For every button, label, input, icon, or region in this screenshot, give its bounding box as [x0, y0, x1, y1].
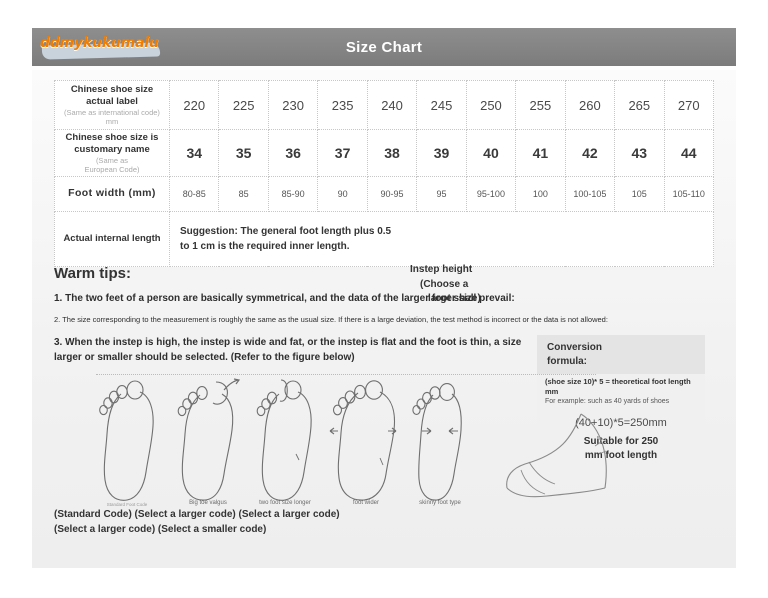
foot-caption-standard-micro: Standard Foot Code [90, 502, 164, 507]
row-label-sub2: mm [56, 117, 168, 126]
table-cell: 105 [615, 176, 664, 211]
foot-illustration-instep [499, 410, 619, 510]
table-cell: 42 [565, 130, 614, 177]
foot-illustration-wider [328, 376, 404, 506]
foot-illustration-valgus [172, 376, 242, 506]
warm-tips-heading: Warm tips: [54, 265, 714, 282]
size-table: Chinese shoe size actual label (Same as … [54, 80, 714, 267]
row-label-main: Foot width (mm) [68, 187, 156, 199]
table-cell: 255 [516, 81, 565, 130]
table-cell: 245 [417, 81, 466, 130]
table-cell: 100 [516, 176, 565, 211]
note-line-2: to 1 cm is the required inner length. [180, 241, 349, 252]
foot-illustration-longer [250, 376, 320, 506]
page-title: Size Chart [32, 28, 736, 66]
row-label-main: Chinese shoe size actual label [71, 84, 153, 107]
table-cell: 90-95 [367, 176, 416, 211]
foot-caption-skinny: skinny foot type [400, 500, 480, 507]
row-label-internal-length: Actual internal length [55, 211, 170, 266]
foot-caption-line-2: (Select a larger code) (Select a smaller… [54, 524, 266, 535]
tip-item-1: 1. The two feet of a person are basicall… [54, 292, 714, 306]
table-cell: 37 [318, 130, 367, 177]
row-label-main: Actual internal length [63, 233, 160, 244]
row-label-customary-name: Chinese shoe size is customary name (Sam… [55, 130, 170, 177]
table-row: Chinese shoe size is customary name (Sam… [55, 130, 714, 177]
formula-title-line-2: formula: [547, 356, 587, 367]
table-cell: 220 [170, 81, 219, 130]
row-label-sub: (Same as international code) [56, 108, 168, 117]
row-label-actual-label: Chinese shoe size actual label (Same as … [55, 81, 170, 130]
table-cell: 225 [219, 81, 268, 130]
foot-caption-longer: two foot size longer [236, 500, 334, 507]
table-cell: 260 [565, 81, 614, 130]
table-cell: 35 [219, 130, 268, 177]
table-cell: 38 [367, 130, 416, 177]
note-line-1: Suggestion: The general foot length plus… [180, 226, 391, 237]
table-cell: 105-110 [664, 176, 713, 211]
row-label-main: Chinese shoe size is customary name [66, 132, 159, 155]
formula-title-line-1: Conversion [547, 342, 602, 353]
table-cell: 95-100 [466, 176, 515, 211]
foot-illustration-standard [94, 376, 160, 506]
instep-line-1: Instep height [410, 264, 472, 275]
table-row: Actual internal length Suggestion: The g… [55, 211, 714, 266]
foot-illustration-skinny [406, 376, 474, 506]
table-cell: 100-105 [565, 176, 614, 211]
row-label-foot-width: Foot width (mm) [55, 176, 170, 211]
table-cell: 41 [516, 130, 565, 177]
size-chart-page: ddmykukumalu Size Chart Chinese shoe siz… [0, 0, 768, 598]
table-cell: 40 [466, 130, 515, 177]
table-cell: 95 [417, 176, 466, 211]
table-cell: 230 [268, 81, 317, 130]
table-cell: 240 [367, 81, 416, 130]
table-cell: 43 [615, 130, 664, 177]
table-cell: 270 [664, 81, 713, 130]
table-cell: 39 [417, 130, 466, 177]
foot-caption-wider: foot wider [326, 500, 406, 507]
internal-length-note: Suggestion: The general foot length plus… [170, 211, 714, 266]
table-cell: 235 [318, 81, 367, 130]
table-row: Chinese shoe size actual label (Same as … [55, 81, 714, 130]
table-cell: 44 [664, 130, 713, 177]
tip-item-3: 3. When the instep is high, the instep i… [54, 335, 524, 365]
formula-title: Conversion formula: [537, 335, 705, 374]
diagram-top-rule [96, 374, 596, 375]
tip-item-2: 2. The size corresponding to the measure… [54, 315, 709, 326]
table-cell: 265 [615, 81, 664, 130]
instep-line-2: (Choose a [410, 278, 530, 293]
row-label-sub2: European Code) [56, 165, 168, 174]
table-cell: 90 [318, 176, 367, 211]
instep-line-3: larger size) [410, 292, 530, 307]
table-cell: 85-90 [268, 176, 317, 211]
foot-caption-block: (Standard Code) (Select a larger code) (… [54, 508, 474, 537]
instep-caption: Instep height (Choose a larger size) [410, 263, 530, 307]
table-cell: 250 [466, 81, 515, 130]
table-cell: 34 [170, 130, 219, 177]
table-cell: 85 [219, 176, 268, 211]
content-panel: Chinese shoe size actual label (Same as … [32, 70, 736, 568]
row-label-sub: (Same as [56, 156, 168, 165]
table-cell: 80-85 [170, 176, 219, 211]
table-cell: 36 [268, 130, 317, 177]
foot-caption-line-1: (Standard Code) (Select a larger code) (… [54, 509, 340, 520]
table-row: Foot width (mm) 80-85 85 85-90 90 90-95 … [55, 176, 714, 211]
header-bar: ddmykukumalu Size Chart [32, 28, 736, 66]
